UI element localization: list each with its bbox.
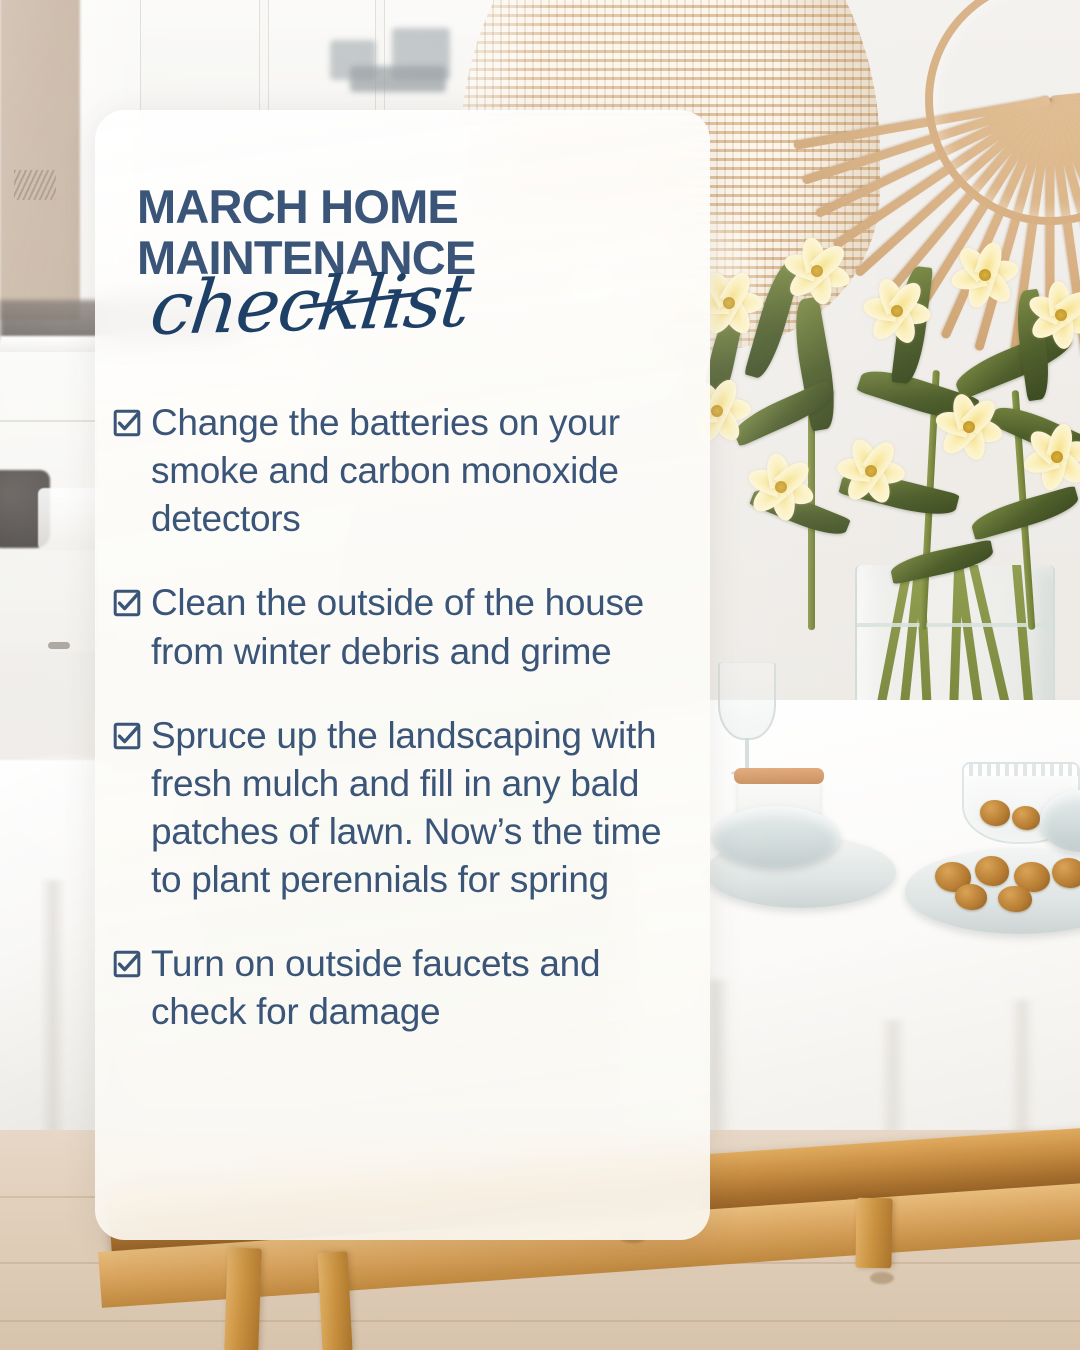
alstroemeria-flowers xyxy=(690,250,1080,670)
cabinet-knob xyxy=(48,642,70,649)
flower-bloom xyxy=(786,240,848,302)
flower-center xyxy=(1055,309,1067,321)
checklist-item-text: Change the batteries on your smoke and c… xyxy=(151,399,692,543)
floor-plank-seam xyxy=(0,1320,1080,1322)
bench-leg xyxy=(855,1198,892,1269)
wood-grain-knot xyxy=(870,1272,894,1284)
leaf xyxy=(889,539,996,584)
flower-center xyxy=(811,265,823,277)
flower-center xyxy=(775,481,787,493)
walnut xyxy=(980,800,1010,826)
checklist-item[interactable]: Clean the outside of the house from wint… xyxy=(113,579,692,675)
flower-bloom xyxy=(1030,284,1080,346)
flower-bloom xyxy=(938,396,1000,458)
flower-bloom xyxy=(954,244,1016,306)
walnut xyxy=(1012,806,1040,830)
walnut xyxy=(998,886,1032,912)
flower-bloom xyxy=(1026,426,1080,488)
checked-box-icon[interactable] xyxy=(113,950,141,978)
walnut xyxy=(955,884,987,910)
checklist-item-text: Spruce up the landscaping with fresh mul… xyxy=(151,712,692,904)
checked-box-icon[interactable] xyxy=(113,722,141,750)
flower-center xyxy=(723,297,735,309)
ceramic-bowl xyxy=(712,806,840,868)
flower-center xyxy=(865,465,877,477)
title-block: MARCH HOME MAINTENANCE checklist xyxy=(95,182,710,341)
glass-stem xyxy=(745,738,749,772)
checklist-card: MARCH HOME MAINTENANCE checklist Change … xyxy=(95,110,710,1240)
flower-center xyxy=(963,421,975,433)
checked-box-icon[interactable] xyxy=(113,409,141,437)
glass-bowl xyxy=(718,662,776,740)
flower-center xyxy=(711,405,723,417)
vent-grille xyxy=(14,170,56,200)
flower-center xyxy=(1051,451,1063,463)
checklist-item-text: Turn on outside faucets and check for da… xyxy=(151,940,692,1036)
flower-center xyxy=(891,305,903,317)
checklist-item[interactable]: Change the batteries on your smoke and c… xyxy=(113,399,692,543)
flower-bloom xyxy=(840,440,902,502)
maintenance-checklist: Change the batteries on your smoke and c… xyxy=(95,399,710,1036)
checklist-item[interactable]: Turn on outside faucets and check for da… xyxy=(113,940,692,1036)
walnut xyxy=(975,856,1009,886)
shelf-object xyxy=(350,66,446,92)
script-subtitle: checklist xyxy=(147,264,675,341)
checklist-item[interactable]: Spruce up the landscaping with fresh mul… xyxy=(113,712,692,904)
flower-bloom xyxy=(866,280,928,342)
bench-leg xyxy=(317,1251,352,1350)
flower-center xyxy=(979,269,991,281)
wine-glass xyxy=(718,662,776,782)
wooden-lid xyxy=(734,768,824,784)
poster-canvas: MARCH HOME MAINTENANCE checklist Change … xyxy=(0,0,1080,1350)
checked-box-icon[interactable] xyxy=(113,589,141,617)
flower-bloom xyxy=(750,456,812,518)
tan-column xyxy=(0,0,80,320)
bench-leg xyxy=(224,1247,262,1350)
checklist-item-text: Clean the outside of the house from wint… xyxy=(151,579,692,675)
